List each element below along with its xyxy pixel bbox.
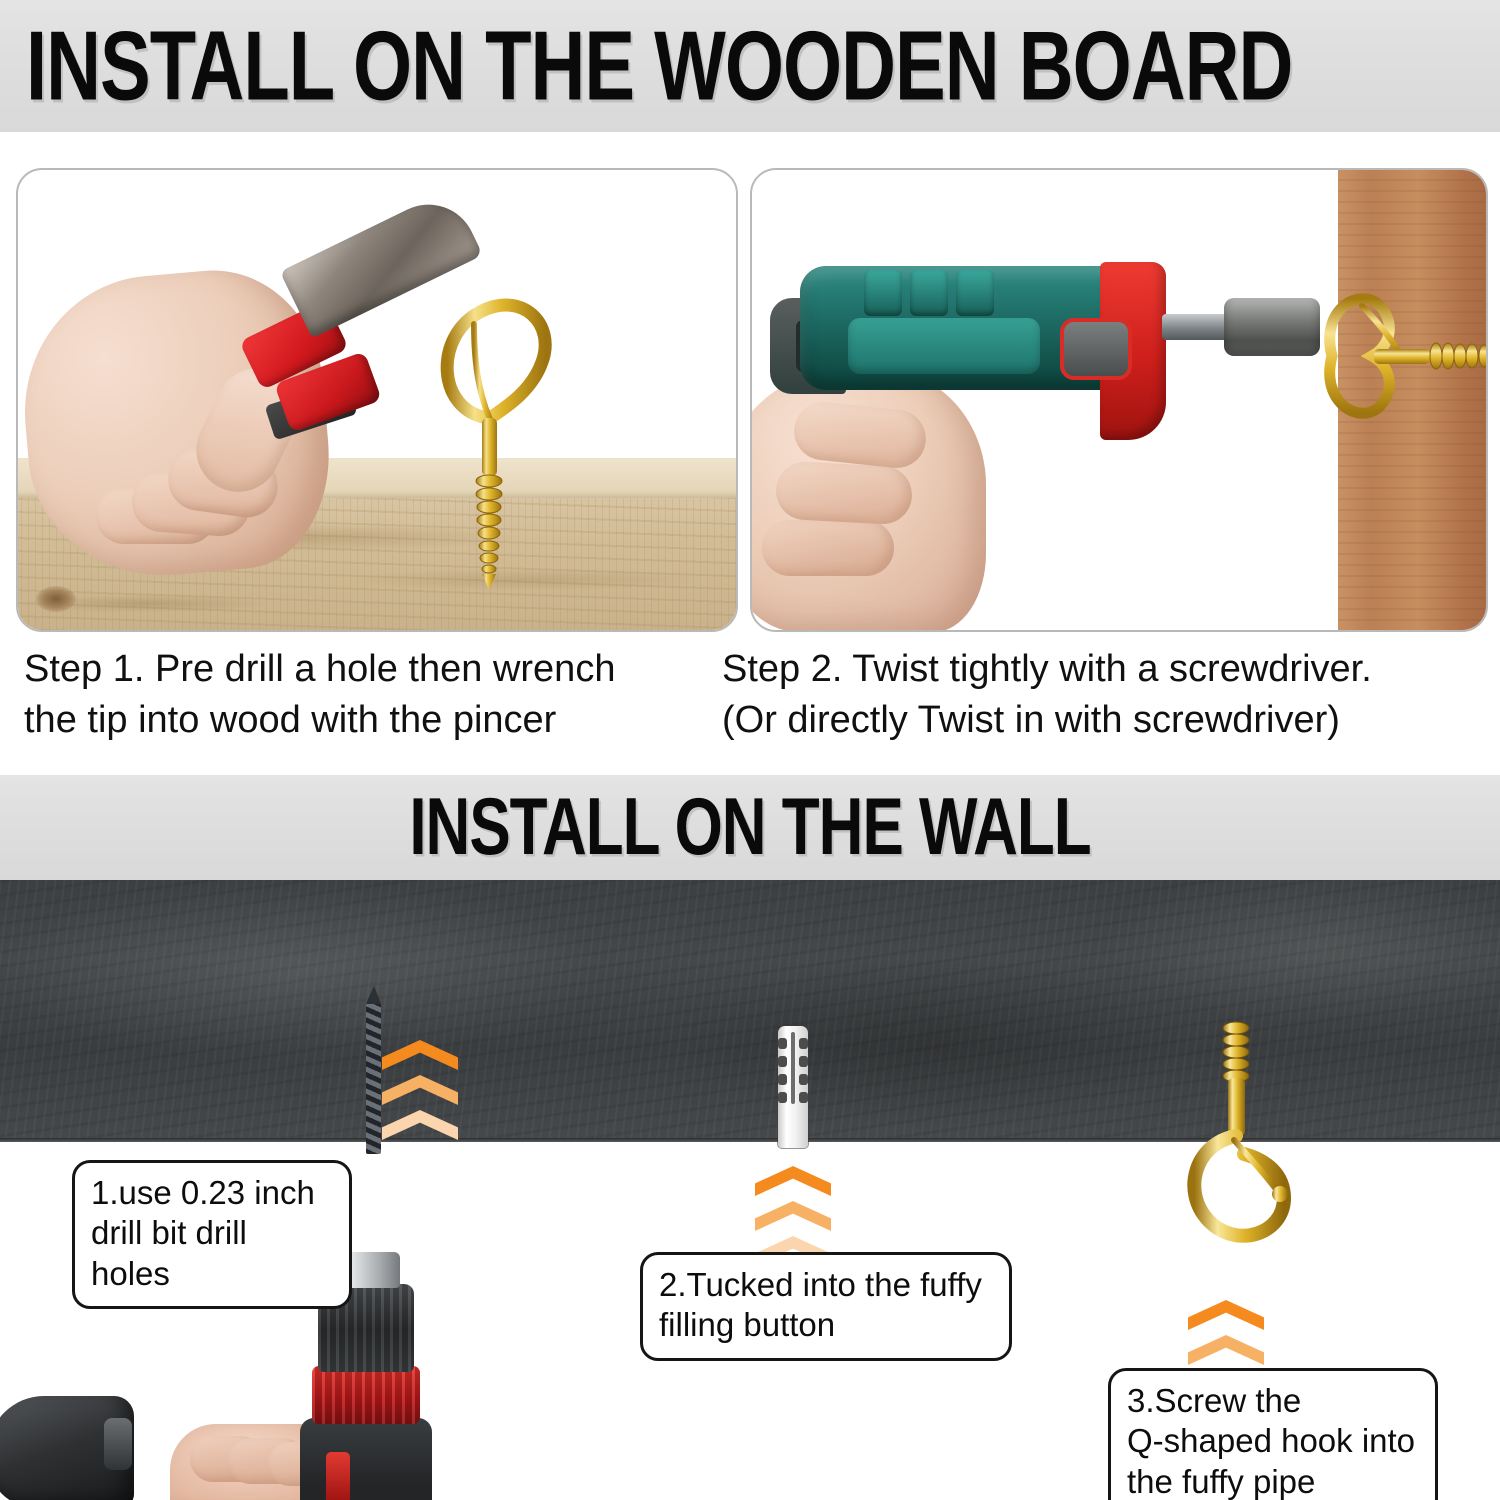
chevron-up-icon: [1188, 1335, 1264, 1365]
plug-rib: [778, 1092, 787, 1103]
screwdriver-vent: [910, 270, 948, 316]
finger: [775, 460, 914, 525]
q-shaped-screw-hook-icon: [1178, 1020, 1328, 1290]
wooden-board-title: INSTALL ON THE WOODEN BOARD: [0, 9, 1292, 122]
wall-anchor-plug-icon: [778, 1026, 808, 1148]
screwdriver-direction-switch[interactable]: [1060, 318, 1132, 380]
plug-rib: [778, 1074, 787, 1085]
plug-rib: [799, 1074, 808, 1085]
plug-rib: [778, 1056, 787, 1067]
drill-battery-connector: [104, 1418, 132, 1470]
chevron-up-icon: [1188, 1300, 1264, 1330]
step-captions: Step 1. Pre drill a hole then wrench the…: [0, 644, 1500, 764]
drill-bit-tip: [366, 986, 381, 1004]
plug-rib: [778, 1038, 787, 1049]
plug-rib: [799, 1092, 808, 1103]
step-photo-panels: [0, 168, 1500, 628]
plug-expansion-slot: [791, 1032, 795, 1104]
chevron-up-arrow-stack: [382, 1040, 458, 1145]
chevron-up-icon: [382, 1110, 458, 1140]
callout-step-2: 2.Tucked into the fuffy filling button: [640, 1252, 1012, 1361]
screwdriver-vent: [864, 270, 902, 316]
chevron-up-icon: [755, 1201, 831, 1231]
plug-rib: [799, 1056, 808, 1067]
wall-title: INSTALL ON THE WALL: [409, 781, 1090, 873]
callout-step-1: 1.use 0.23 inch drill bit drill holes: [72, 1160, 352, 1309]
chevron-up-icon: [382, 1040, 458, 1070]
screwdriver-side-panel: [848, 318, 1040, 374]
finger: [762, 520, 894, 576]
drill-handle: [300, 1418, 432, 1500]
infographic-page: INSTALL ON THE WOODEN BOARD: [0, 0, 1500, 1500]
screwdriver-shaft: [1162, 314, 1232, 340]
section-header-wall: INSTALL ON THE WALL: [0, 775, 1500, 880]
section-header-wooden-board: INSTALL ON THE WOODEN BOARD: [0, 0, 1500, 132]
step-2-caption: Step 2. Twist tightly with a screwdriver…: [722, 644, 1492, 745]
board-knot: [36, 586, 76, 612]
screwdriver-vent: [956, 270, 994, 316]
drill-torque-collar[interactable]: [312, 1366, 420, 1424]
step-2-photo: [750, 168, 1488, 632]
q-shaped-screw-hook-icon: [1298, 282, 1488, 432]
callout-step-3: 3.Screw the Q-shaped hook into the fuffy…: [1108, 1368, 1438, 1500]
chevron-up-icon: [755, 1166, 831, 1196]
step-1-photo: [16, 168, 738, 632]
drill-bit-icon: [366, 1002, 381, 1154]
q-shaped-screw-hook-icon: [416, 278, 566, 608]
drill-trigger[interactable]: [326, 1452, 350, 1500]
plug-rib: [799, 1038, 808, 1049]
step-1-caption: Step 1. Pre drill a hole then wrench the…: [24, 644, 724, 745]
chevron-up-icon: [382, 1075, 458, 1105]
